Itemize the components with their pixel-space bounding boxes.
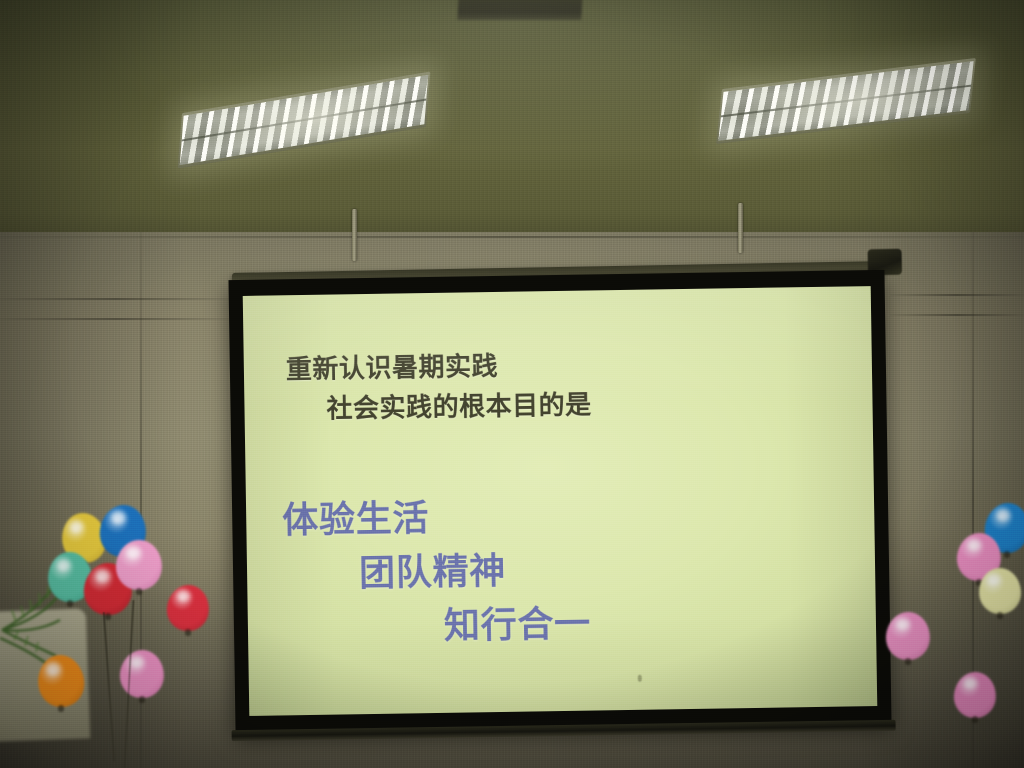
slide-body-line-3: 知行合一 (443, 595, 591, 649)
projection-screen-surface: 重新认识暑期实践 社会实践的根本目的是 体验生活 团队精神 知行合一 (243, 286, 878, 716)
balloon-blue-right-knot (1004, 551, 1010, 558)
projection-screen-frame: 重新认识暑期实践 社会实践的根本目的是 体验生活 团队精神 知行合一 (228, 270, 891, 732)
mount-rod-right (738, 203, 743, 253)
slide-title-line-1: 重新认识暑期实践 (286, 346, 499, 386)
room-photo: 重新认识暑期实践 社会实践的根本目的是 体验生活 团队精神 知行合一 (0, 0, 1024, 768)
mount-rod-left (352, 209, 357, 261)
projection-screen-assembly: 重新认识暑期实践 社会实践的根本目的是 体验生活 团队精神 知行合一 (228, 255, 890, 733)
slide-body-line-1: 体验生活 (282, 489, 430, 543)
balloon-red-right-knot (185, 629, 191, 636)
balloon-pink-low-knot (139, 696, 145, 703)
balloon-red-knot (105, 613, 111, 620)
balloon-pink-top-knot (136, 588, 142, 595)
balloon-pink-mid-knot (905, 658, 911, 665)
balloon-pink-bottom-knot (972, 716, 978, 723)
balloon-teal-knot (67, 600, 73, 607)
slide-title-line-2: 社会实践的根本目的是 (326, 384, 592, 425)
balloon-orange-knot (58, 705, 64, 712)
slide-content: 重新认识暑期实践 社会实践的根本目的是 体验生活 团队精神 知行合一 (243, 286, 878, 716)
balloon-cream-right-knot (997, 612, 1003, 619)
slide-body-line-2: 团队精神 (359, 542, 507, 596)
